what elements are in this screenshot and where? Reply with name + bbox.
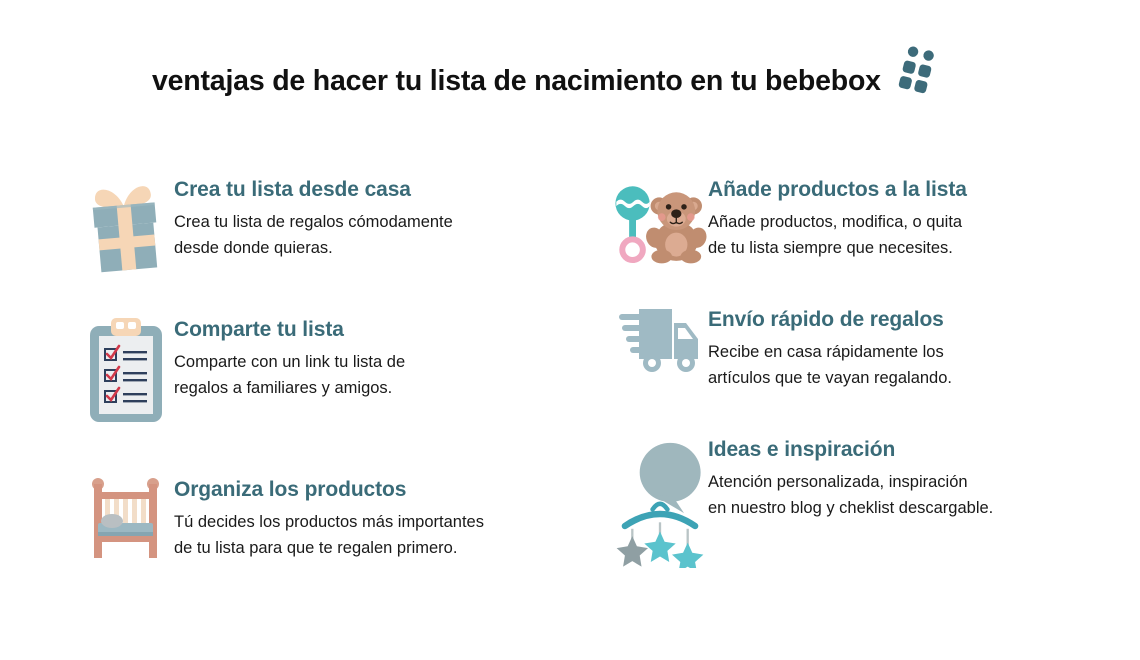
gift-box-icon [78, 176, 174, 276]
feature-text: Ideas e inspiración Atención personaliza… [708, 436, 993, 521]
feature-description-line: regalos a familiares y amigos. [174, 375, 405, 401]
speech-bubble-shape [640, 443, 701, 513]
feature-title: Organiza los productos [174, 478, 484, 502]
feature-description-line: Añade productos, modifica, o quita [708, 209, 967, 235]
feature-description-line: Tú decides los productos más importantes [174, 509, 484, 535]
feature-description-line: artículos que te vayan regalando. [708, 365, 952, 391]
feature-description: Atención personalizada, inspiración en n… [708, 469, 993, 521]
feature-title: Ideas e inspiración [708, 438, 993, 462]
feature-description-line: Recibe en casa rápidamente los [708, 339, 952, 365]
feature-item: Ideas e inspiración Atención personaliza… [612, 436, 993, 568]
feature-text: Añade productos a la lista Añade product… [708, 176, 967, 261]
feature-description-line: Comparte con un link tu lista de [174, 349, 405, 375]
speech-bubble-and-baby-mobile-icon [612, 436, 708, 568]
feature-item: Envío rápido de regalos Recibe en casa r… [612, 306, 952, 391]
baby-crib-icon [78, 476, 174, 562]
feature-description-line: Crea tu lista de regalos cómodamente [174, 209, 453, 235]
feature-description: Tú decides los productos más importantes… [174, 509, 484, 561]
feature-description-line: desde donde quieras. [174, 235, 453, 261]
feature-title: Envío rápido de regalos [708, 308, 952, 332]
feature-item: Organiza los productos Tú decides los pr… [78, 476, 484, 562]
feature-description-line: Atención personalizada, inspiración [708, 469, 993, 495]
page-header: ventajas de hacer tu lista de nacimiento… [152, 66, 937, 107]
feature-description: Comparte con un link tu lista de regalos… [174, 349, 405, 401]
feature-text: Envío rápido de regalos Recibe en casa r… [708, 306, 952, 391]
feature-description-line: de tu lista para que te regalen primero. [174, 535, 484, 561]
feature-description: Añade productos, modifica, o quita de tu… [708, 209, 967, 261]
feature-item: Crea tu lista desde casa Crea tu lista d… [78, 176, 453, 276]
clipboard-checklist-icon [78, 316, 174, 424]
feature-title: Comparte tu lista [174, 318, 405, 342]
bebebox-blocks-logo-icon [895, 44, 937, 107]
page-title: ventajas de hacer tu lista de nacimiento… [152, 66, 881, 97]
feature-text: Crea tu lista desde casa Crea tu lista d… [174, 176, 453, 261]
delivery-truck-icon [612, 306, 708, 374]
feature-description: Crea tu lista de regalos cómodamente des… [174, 209, 453, 261]
feature-item: Añade productos a la lista Añade product… [612, 176, 967, 272]
feature-description: Recibe en casa rápidamente los artículos… [708, 339, 952, 391]
feature-item: Comparte tu lista Comparte con un link t… [78, 316, 405, 424]
feature-description-line: de tu lista siempre que necesites. [708, 235, 967, 261]
feature-title: Crea tu lista desde casa [174, 178, 453, 202]
feature-description-line: en nuestro blog y cheklist descargable. [708, 495, 993, 521]
rattle-and-teddy-bear-icon [612, 176, 708, 272]
feature-title: Añade productos a la lista [708, 178, 967, 202]
feature-text: Organiza los productos Tú decides los pr… [174, 476, 484, 561]
feature-text: Comparte tu lista Comparte con un link t… [174, 316, 405, 401]
